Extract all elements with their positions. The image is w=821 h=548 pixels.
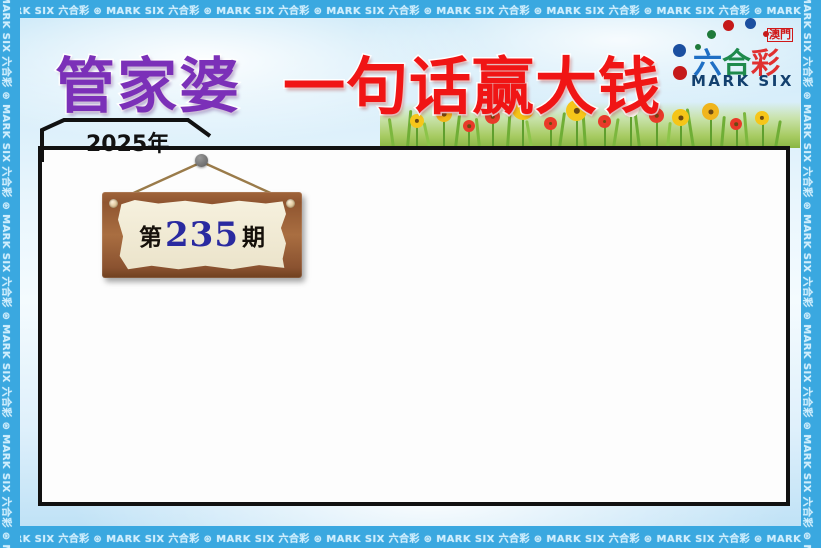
border-right-text: MARK SIX 六合彩 ⊛ MARK SIX 六合彩 ⊛ MARK SIX 六… (801, 0, 816, 548)
sign-screw-left (109, 199, 118, 208)
mark-six-logo: 澳門 六合彩 MARK SIX (665, 18, 795, 96)
hanging-sign: 第 235 期 (72, 154, 332, 284)
issue-prefix: 第 (139, 218, 162, 252)
issue-suffix: 期 (242, 218, 265, 252)
logo-dot-red-1 (723, 20, 734, 31)
logo-dot-blue-2 (673, 44, 686, 57)
logo-english-text: MARK SIX (691, 72, 794, 90)
issue-number-group: 第 235 期 (118, 200, 286, 270)
poster-stage: 管家婆 一句话赢大钱 澳門 六合彩 MARK SIX 2025年 (0, 0, 821, 548)
logo-dot-blue-1 (745, 18, 756, 29)
page-title-slogan: 一句话赢大钱 (283, 36, 661, 126)
sign-paper: 第 235 期 (118, 200, 286, 270)
issue-number: 235 (165, 215, 239, 255)
border-right: MARK SIX 六合彩 ⊛ MARK SIX 六合彩 ⊛ MARK SIX 六… (801, 0, 821, 548)
page-title-brand: 管家婆 (55, 38, 241, 125)
sign-screw-right (286, 199, 295, 208)
border-top-text: MARK SIX 六合彩 ⊛ MARK SIX 六合彩 ⊛ MARK SIX 六… (0, 2, 821, 17)
logo-dot-red-3 (673, 66, 687, 80)
border-left: MARK SIX 六合彩 ⊛ MARK SIX 六合彩 ⊛ MARK SIX 六… (0, 0, 20, 548)
border-bottom-text: MARK SIX 六合彩 ⊛ MARK SIX 六合彩 ⊛ MARK SIX 六… (0, 530, 821, 545)
border-bottom: MARK SIX 六合彩 ⊛ MARK SIX 六合彩 ⊛ MARK SIX 六… (0, 526, 821, 548)
sign-board: 第 235 期 (102, 192, 302, 278)
sign-hook-knob (195, 154, 208, 167)
logo-dot-green-1 (707, 30, 716, 39)
border-left-text: MARK SIX 六合彩 ⊛ MARK SIX 六合彩 ⊛ MARK SIX 六… (0, 0, 15, 548)
border-top: MARK SIX 六合彩 ⊛ MARK SIX 六合彩 ⊛ MARK SIX 六… (0, 0, 821, 18)
